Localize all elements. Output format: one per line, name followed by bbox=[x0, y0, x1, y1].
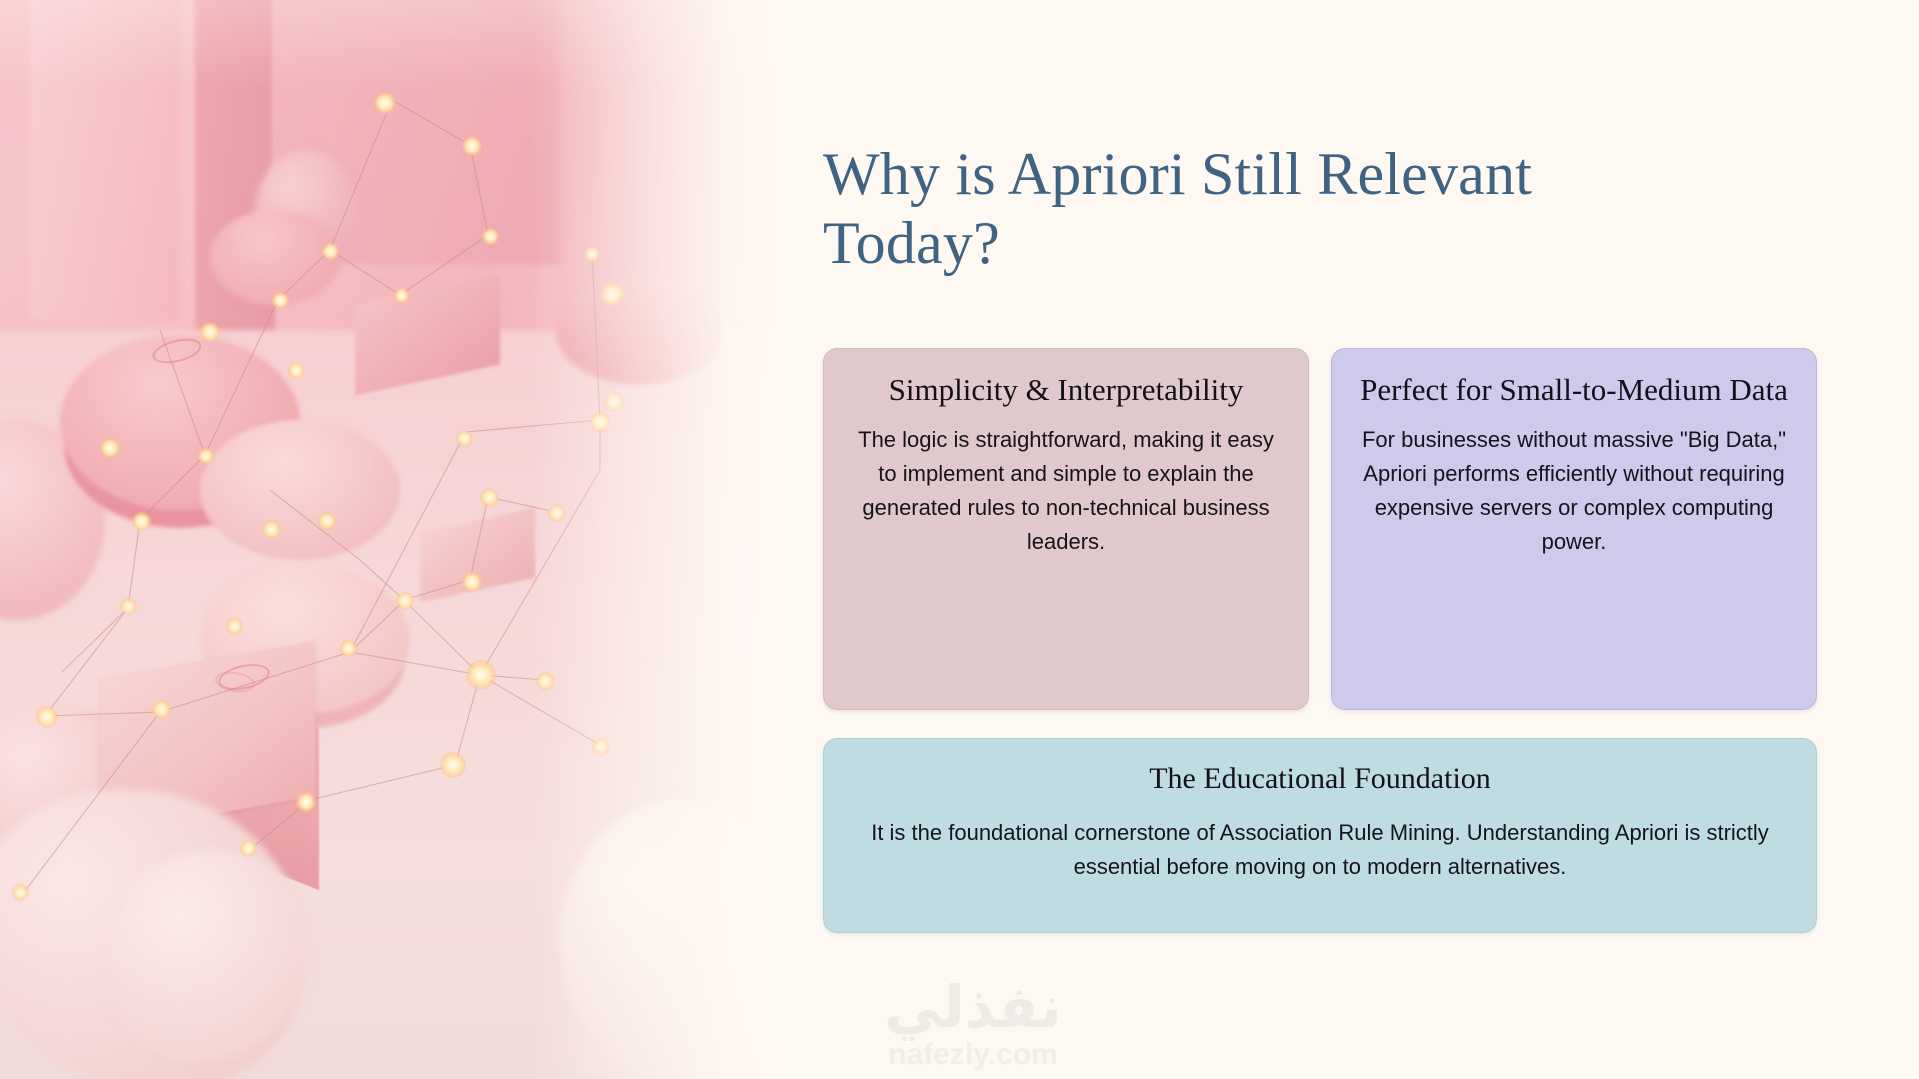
glow-node bbox=[36, 706, 58, 728]
top-cards-row: Simplicity & Interpretability The logic … bbox=[823, 348, 1817, 710]
card-body: It is the foundational cornerstone of As… bbox=[854, 816, 1786, 886]
glow-node bbox=[200, 322, 220, 342]
glow-node bbox=[198, 448, 214, 464]
glow-node bbox=[396, 592, 414, 610]
watermark-domain-text: nafezly.com bbox=[838, 1038, 1108, 1071]
glow-node bbox=[262, 520, 281, 539]
glow-node bbox=[288, 362, 305, 379]
card-body: The logic is straightforward, making it … bbox=[850, 423, 1282, 559]
glow-node bbox=[456, 430, 473, 447]
glow-node bbox=[272, 292, 289, 309]
glow-node bbox=[462, 136, 482, 156]
hero-right-fade bbox=[530, 0, 790, 1079]
glow-node bbox=[100, 438, 120, 458]
glow-node bbox=[120, 598, 137, 615]
watermark: نفذلي nafezly.com bbox=[838, 978, 1108, 1071]
watermark-arabic-text: نفذلي bbox=[838, 978, 1108, 1036]
glow-node bbox=[318, 512, 336, 530]
glow-node bbox=[322, 243, 339, 260]
card-small-to-medium-data[interactable]: Perfect for Small-to-Medium Data For bus… bbox=[1331, 348, 1817, 710]
page-title: Why is Apriori Still Relevant Today? bbox=[823, 140, 1683, 278]
hero-artwork bbox=[0, 0, 790, 1079]
glow-node bbox=[482, 228, 499, 245]
card-simplicity-interpretability[interactable]: Simplicity & Interpretability The logic … bbox=[823, 348, 1309, 710]
glow-node bbox=[462, 572, 482, 592]
glow-node bbox=[374, 92, 396, 114]
glow-node bbox=[466, 660, 496, 690]
card-heading: The Educational Foundation bbox=[854, 761, 1786, 798]
card-body: For businesses without massive "Big Data… bbox=[1358, 423, 1790, 559]
glow-node bbox=[240, 840, 257, 857]
glow-node bbox=[152, 700, 171, 719]
glow-node bbox=[226, 618, 243, 635]
glow-node bbox=[394, 288, 409, 303]
card-heading: Simplicity & Interpretability bbox=[850, 371, 1282, 409]
hero-image-panel bbox=[0, 0, 790, 1079]
glow-node bbox=[340, 640, 357, 657]
glow-node bbox=[296, 792, 316, 812]
card-educational-foundation[interactable]: The Educational Foundation It is the fou… bbox=[823, 738, 1817, 933]
glow-node bbox=[132, 512, 151, 531]
glow-node bbox=[12, 884, 29, 901]
glow-node bbox=[480, 488, 499, 507]
card-heading: Perfect for Small-to-Medium Data bbox=[1358, 371, 1790, 409]
glow-node bbox=[440, 752, 466, 778]
content-area: Why is Apriori Still Relevant Today? Sim… bbox=[823, 0, 1919, 1079]
